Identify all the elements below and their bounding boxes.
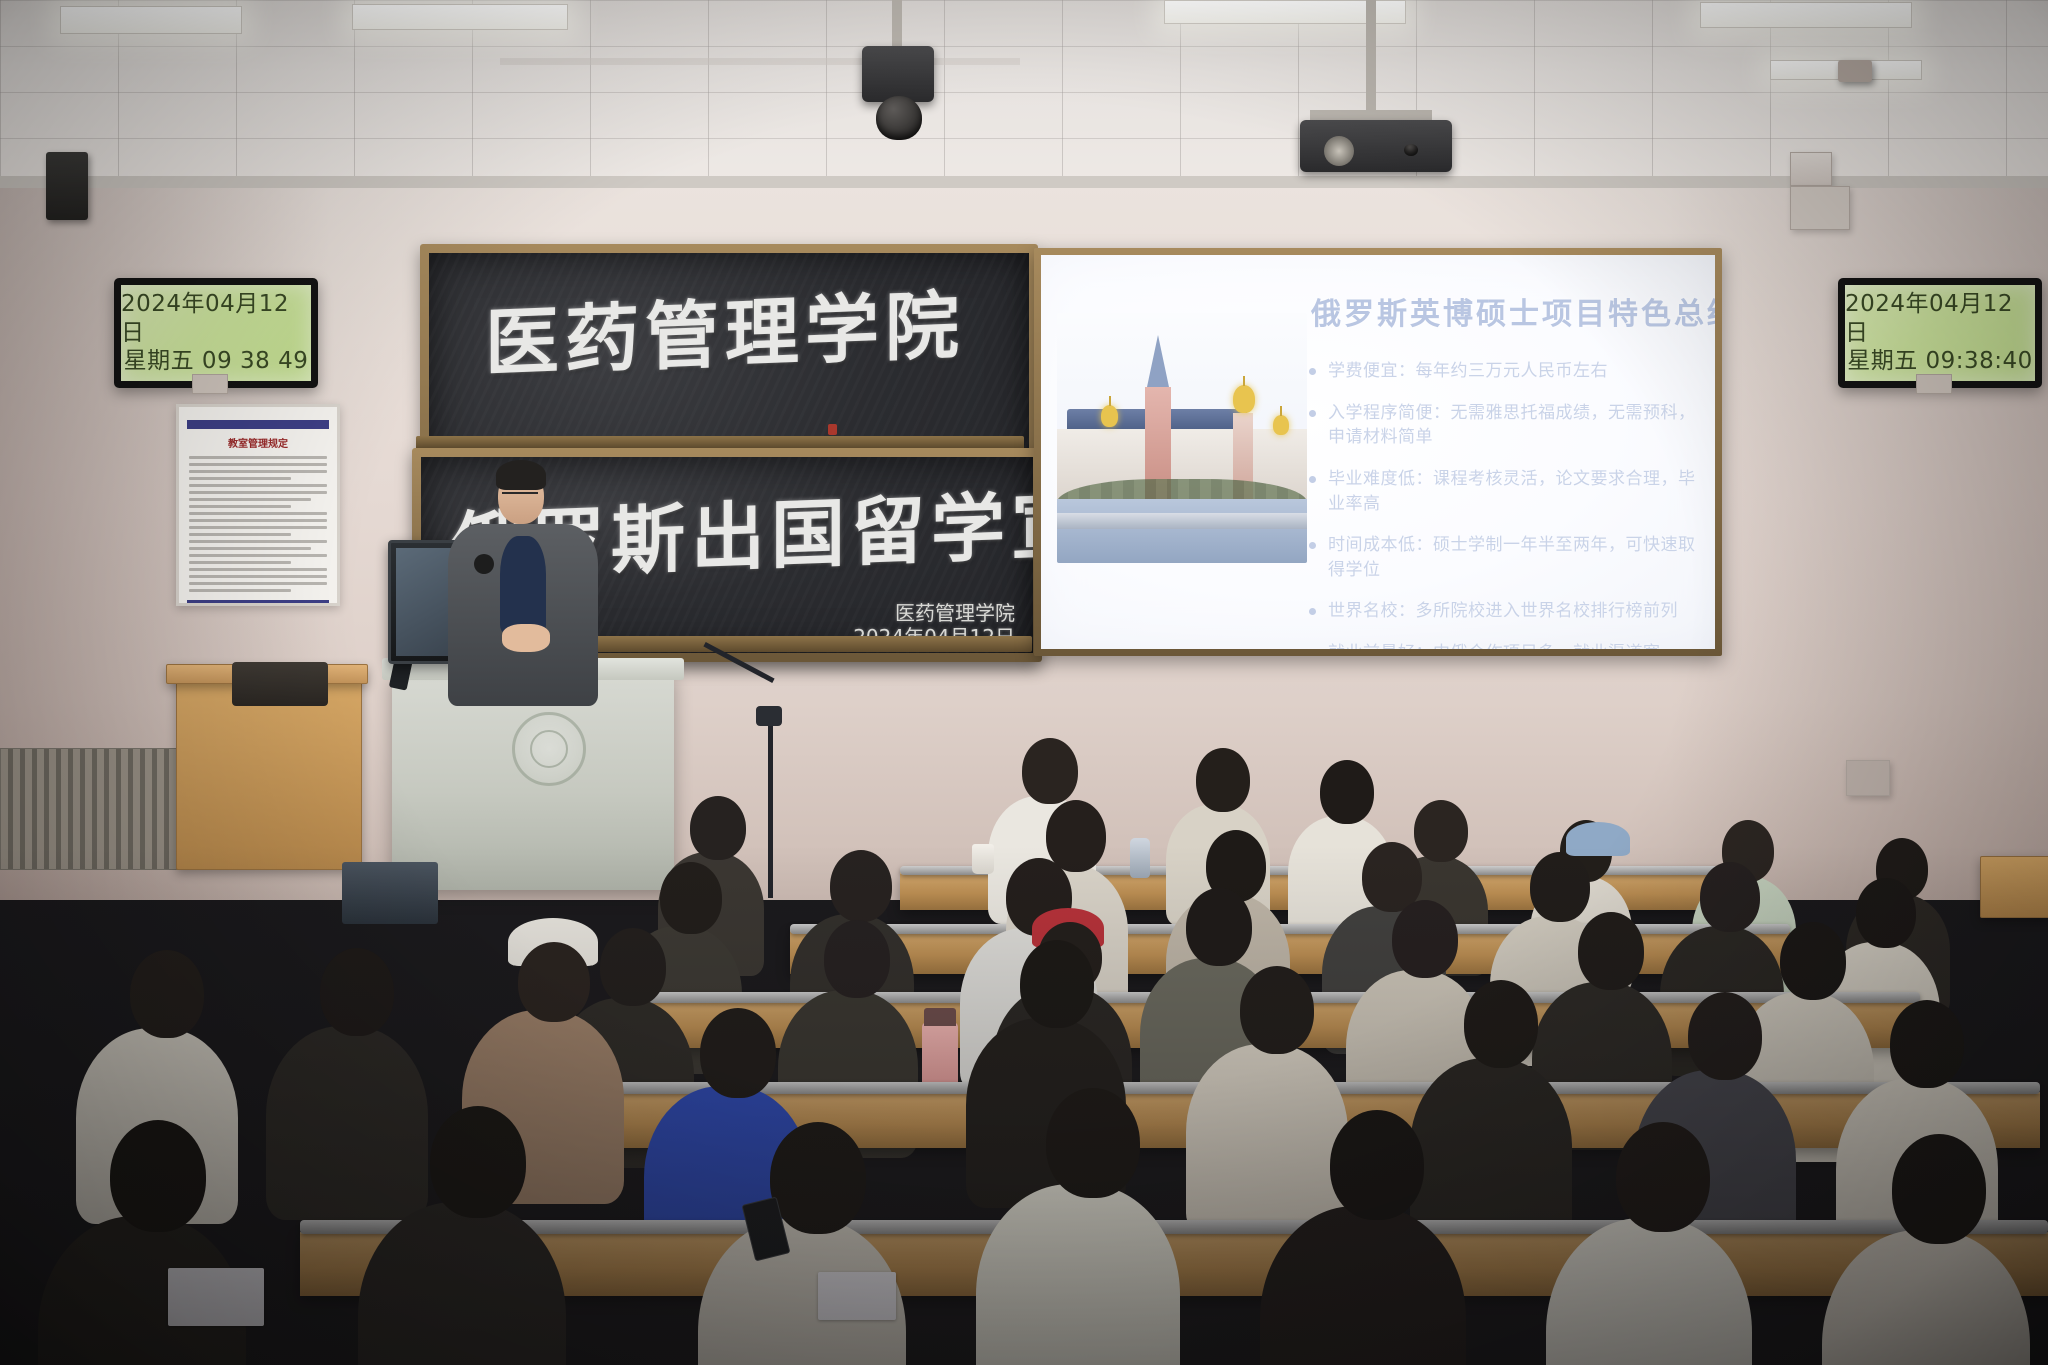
slide-bullet-text: 时间成本低：硕士学制一年半至两年，可快速取得学位	[1328, 533, 1709, 582]
led-clock-right: 2024年04月12日 星期五 09:38:40	[1838, 278, 2042, 388]
presenter-shirt	[500, 536, 546, 632]
kremlin-tower-spire	[1147, 335, 1169, 387]
bullet-dot-icon	[1309, 608, 1316, 615]
lapel-microphone-icon	[474, 554, 494, 574]
golden-dome	[1273, 415, 1289, 435]
slide-bullet: 学费便宜：每年约三万元人民币左右	[1309, 359, 1709, 384]
wall-sign-plate	[1790, 186, 1850, 230]
clock-left-date: 2024年04月12日	[121, 290, 311, 348]
slide-bullet-text: 世界名校：多所院校进入世界名校排行榜前列	[1328, 599, 1678, 624]
ceiling-beam	[0, 176, 2048, 188]
foreground-shadow	[0, 845, 2048, 1365]
projection-screen-surface: 俄罗斯英博硕士项目特色总结 学费便宜：每年约三万元人民币左右 入学程序简便：无需…	[1041, 255, 1715, 649]
wall-speaker-left	[46, 152, 88, 220]
clock-right-stem	[1916, 374, 1952, 394]
slide-bullet-text: 毕业难度低：课程考核灵活，论文要求合理，毕业率高	[1328, 467, 1709, 516]
presenter-hands	[502, 624, 550, 652]
clock-right-time: 星期五 09:38:40	[1847, 347, 2033, 376]
wall-speaker-right	[1838, 60, 1872, 82]
slide-bullet-text: 入学程序简便：无需雅思托福成绩，无需预科，申请材料简单	[1328, 401, 1709, 450]
chalk-line-1: 医药管理学院	[485, 266, 965, 391]
bullet-dot-icon	[1309, 542, 1316, 549]
moskva-river	[1057, 499, 1307, 563]
slide-bullet: 入学程序简便：无需雅思托福成绩，无需预科，申请材料简单	[1309, 401, 1709, 450]
ceiling-camera-dome	[876, 96, 922, 140]
slide-bullet-text: 就业前景好：中俄合作项目多，就业渠道宽	[1328, 641, 1661, 649]
bullet-dot-icon	[1309, 410, 1316, 417]
chalk-signature-org: 医药管理学院	[853, 601, 1015, 625]
bridge	[1057, 513, 1307, 529]
notice-header-bar	[187, 420, 329, 429]
ceiling-projector	[1300, 120, 1452, 172]
equipment-box	[232, 662, 328, 706]
clock-left-stem	[192, 374, 228, 394]
camera-mount-rod	[892, 0, 902, 52]
camera-housing	[862, 46, 934, 102]
golden-dome	[1233, 385, 1255, 413]
projector-mount-rod	[1366, 0, 1376, 112]
led-clock-left: 2024年04月12日 星期五 09 38 49	[114, 278, 318, 388]
slide-bullet-text: 学费便宜：每年约三万元人民币左右	[1328, 359, 1608, 384]
notice-title: 教室管理规定	[187, 435, 329, 450]
slide-bullet-list: 学费便宜：每年约三万元人民币左右 入学程序简便：无需雅思托福成绩，无需预科，申请…	[1309, 359, 1709, 649]
presenter-hair	[496, 460, 546, 490]
clock-right-date: 2024年04月12日	[1845, 290, 2035, 348]
slide-title: 俄罗斯英博硕士项目特色总结	[1311, 289, 1715, 333]
slide-bullet: 就业前景好：中俄合作项目多，就业渠道宽	[1309, 641, 1709, 649]
bullet-dot-icon	[1309, 476, 1316, 483]
lecture-hall-photo: 2024年04月12日 星期五 09 38 49 2024年04月12日 星期五…	[0, 0, 2048, 1365]
mic-head	[756, 706, 782, 726]
chalk-piece	[828, 424, 837, 435]
projector-lens	[1324, 136, 1354, 166]
slide-image-kremlin	[1057, 313, 1307, 563]
ceiling-beam	[500, 58, 1020, 65]
wall-vent	[1846, 760, 1890, 796]
projector-indicator	[1404, 144, 1418, 156]
wall-sensor-box	[1790, 152, 1832, 186]
classroom-notice-board: 教室管理规定	[176, 404, 340, 606]
university-crest-icon	[512, 712, 586, 786]
golden-dome	[1101, 405, 1118, 427]
notice-body-lines	[187, 456, 329, 592]
projector-mount-plate	[1310, 110, 1432, 120]
slide-bullet: 世界名校：多所院校进入世界名校排行榜前列	[1309, 599, 1709, 624]
bullet-dot-icon	[1309, 368, 1316, 375]
notice-footer-bar	[187, 600, 329, 606]
projection-screen: 俄罗斯英博硕士项目特色总结 学费便宜：每年约三万元人民币左右 入学程序简便：无需…	[1034, 248, 1722, 656]
ceiling-light-panel	[352, 4, 568, 30]
ceiling-light-panel	[60, 6, 242, 34]
slide-bullet: 毕业难度低：课程考核灵活，论文要求合理，毕业率高	[1309, 467, 1709, 516]
ceiling-light-panel	[1700, 2, 1912, 28]
person-head	[1022, 738, 1078, 804]
presenter-glasses	[502, 492, 538, 502]
person-head	[1320, 760, 1374, 824]
clock-left-time: 星期五 09 38 49	[124, 347, 309, 376]
slide-bullet: 时间成本低：硕士学制一年半至两年，可快速取得学位	[1309, 533, 1709, 582]
person-head	[1196, 748, 1250, 812]
